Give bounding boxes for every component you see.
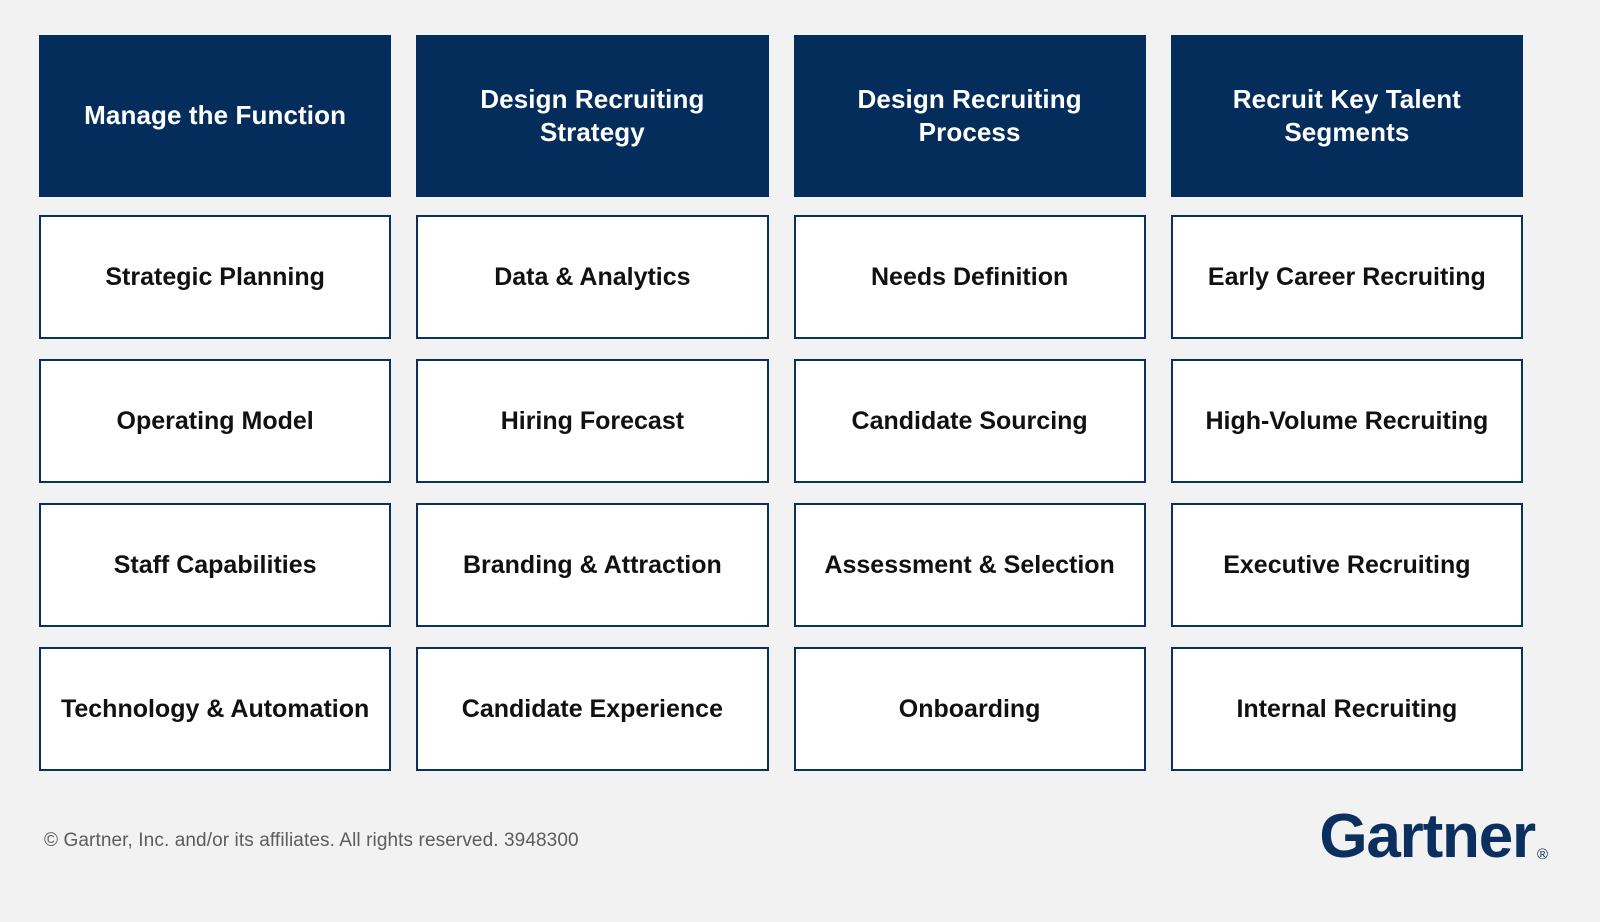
gartner-logo: Gartner ®: [1319, 806, 1548, 868]
cell-4-2[interactable]: High-Volume Recruiting: [1171, 359, 1523, 483]
column-design-recruiting-process: Design Recruiting Process Needs Definiti…: [794, 35, 1146, 771]
row-gap: [794, 627, 1146, 647]
column-recruit-key-talent-segments: Recruit Key Talent Segments Early Career…: [1171, 35, 1523, 771]
column-header-1: Manage the Function: [39, 35, 391, 197]
row-gap: [416, 483, 768, 503]
cell-1-3[interactable]: Staff Capabilities: [39, 503, 391, 627]
registered-trademark-icon: ®: [1537, 847, 1548, 862]
row-gap: [794, 339, 1146, 359]
row-gap: [416, 339, 768, 359]
cell-3-4[interactable]: Onboarding: [794, 647, 1146, 771]
capability-grid: Manage the Function Strategic Planning O…: [39, 35, 1523, 771]
cell-1-4[interactable]: Technology & Automation: [39, 647, 391, 771]
column-header-4: Recruit Key Talent Segments: [1171, 35, 1523, 197]
column-header-2: Design Recruiting Strategy: [416, 35, 768, 197]
row-gap: [1171, 627, 1523, 647]
row-gap: [39, 339, 391, 359]
cell-1-1[interactable]: Strategic Planning: [39, 215, 391, 339]
cell-4-1[interactable]: Early Career Recruiting: [1171, 215, 1523, 339]
header-cell-spacer: [39, 197, 391, 215]
footer: © Gartner, Inc. and/or its affiliates. A…: [0, 792, 1600, 922]
cell-2-2[interactable]: Hiring Forecast: [416, 359, 768, 483]
cell-3-2[interactable]: Candidate Sourcing: [794, 359, 1146, 483]
row-gap: [39, 627, 391, 647]
row-gap: [1171, 339, 1523, 359]
header-cell-spacer: [1171, 197, 1523, 215]
cell-4-4[interactable]: Internal Recruiting: [1171, 647, 1523, 771]
framework-diagram-page: Manage the Function Strategic Planning O…: [0, 0, 1600, 922]
copyright-text: © Gartner, Inc. and/or its affiliates. A…: [44, 830, 579, 852]
column-manage-the-function: Manage the Function Strategic Planning O…: [39, 35, 391, 771]
row-gap: [794, 483, 1146, 503]
cell-2-3[interactable]: Branding & Attraction: [416, 503, 768, 627]
column-header-3: Design Recruiting Process: [794, 35, 1146, 197]
cell-3-1[interactable]: Needs Definition: [794, 215, 1146, 339]
cell-1-2[interactable]: Operating Model: [39, 359, 391, 483]
gartner-logo-wordmark: Gartner: [1319, 806, 1535, 868]
row-gap: [1171, 483, 1523, 503]
cell-2-4[interactable]: Candidate Experience: [416, 647, 768, 771]
row-gap: [416, 627, 768, 647]
header-cell-spacer: [794, 197, 1146, 215]
cell-4-3[interactable]: Executive Recruiting: [1171, 503, 1523, 627]
row-gap: [39, 483, 391, 503]
cell-3-3[interactable]: Assessment & Selection: [794, 503, 1146, 627]
column-design-recruiting-strategy: Design Recruiting Strategy Data & Analyt…: [416, 35, 768, 771]
header-cell-spacer: [416, 197, 768, 215]
cell-2-1[interactable]: Data & Analytics: [416, 215, 768, 339]
